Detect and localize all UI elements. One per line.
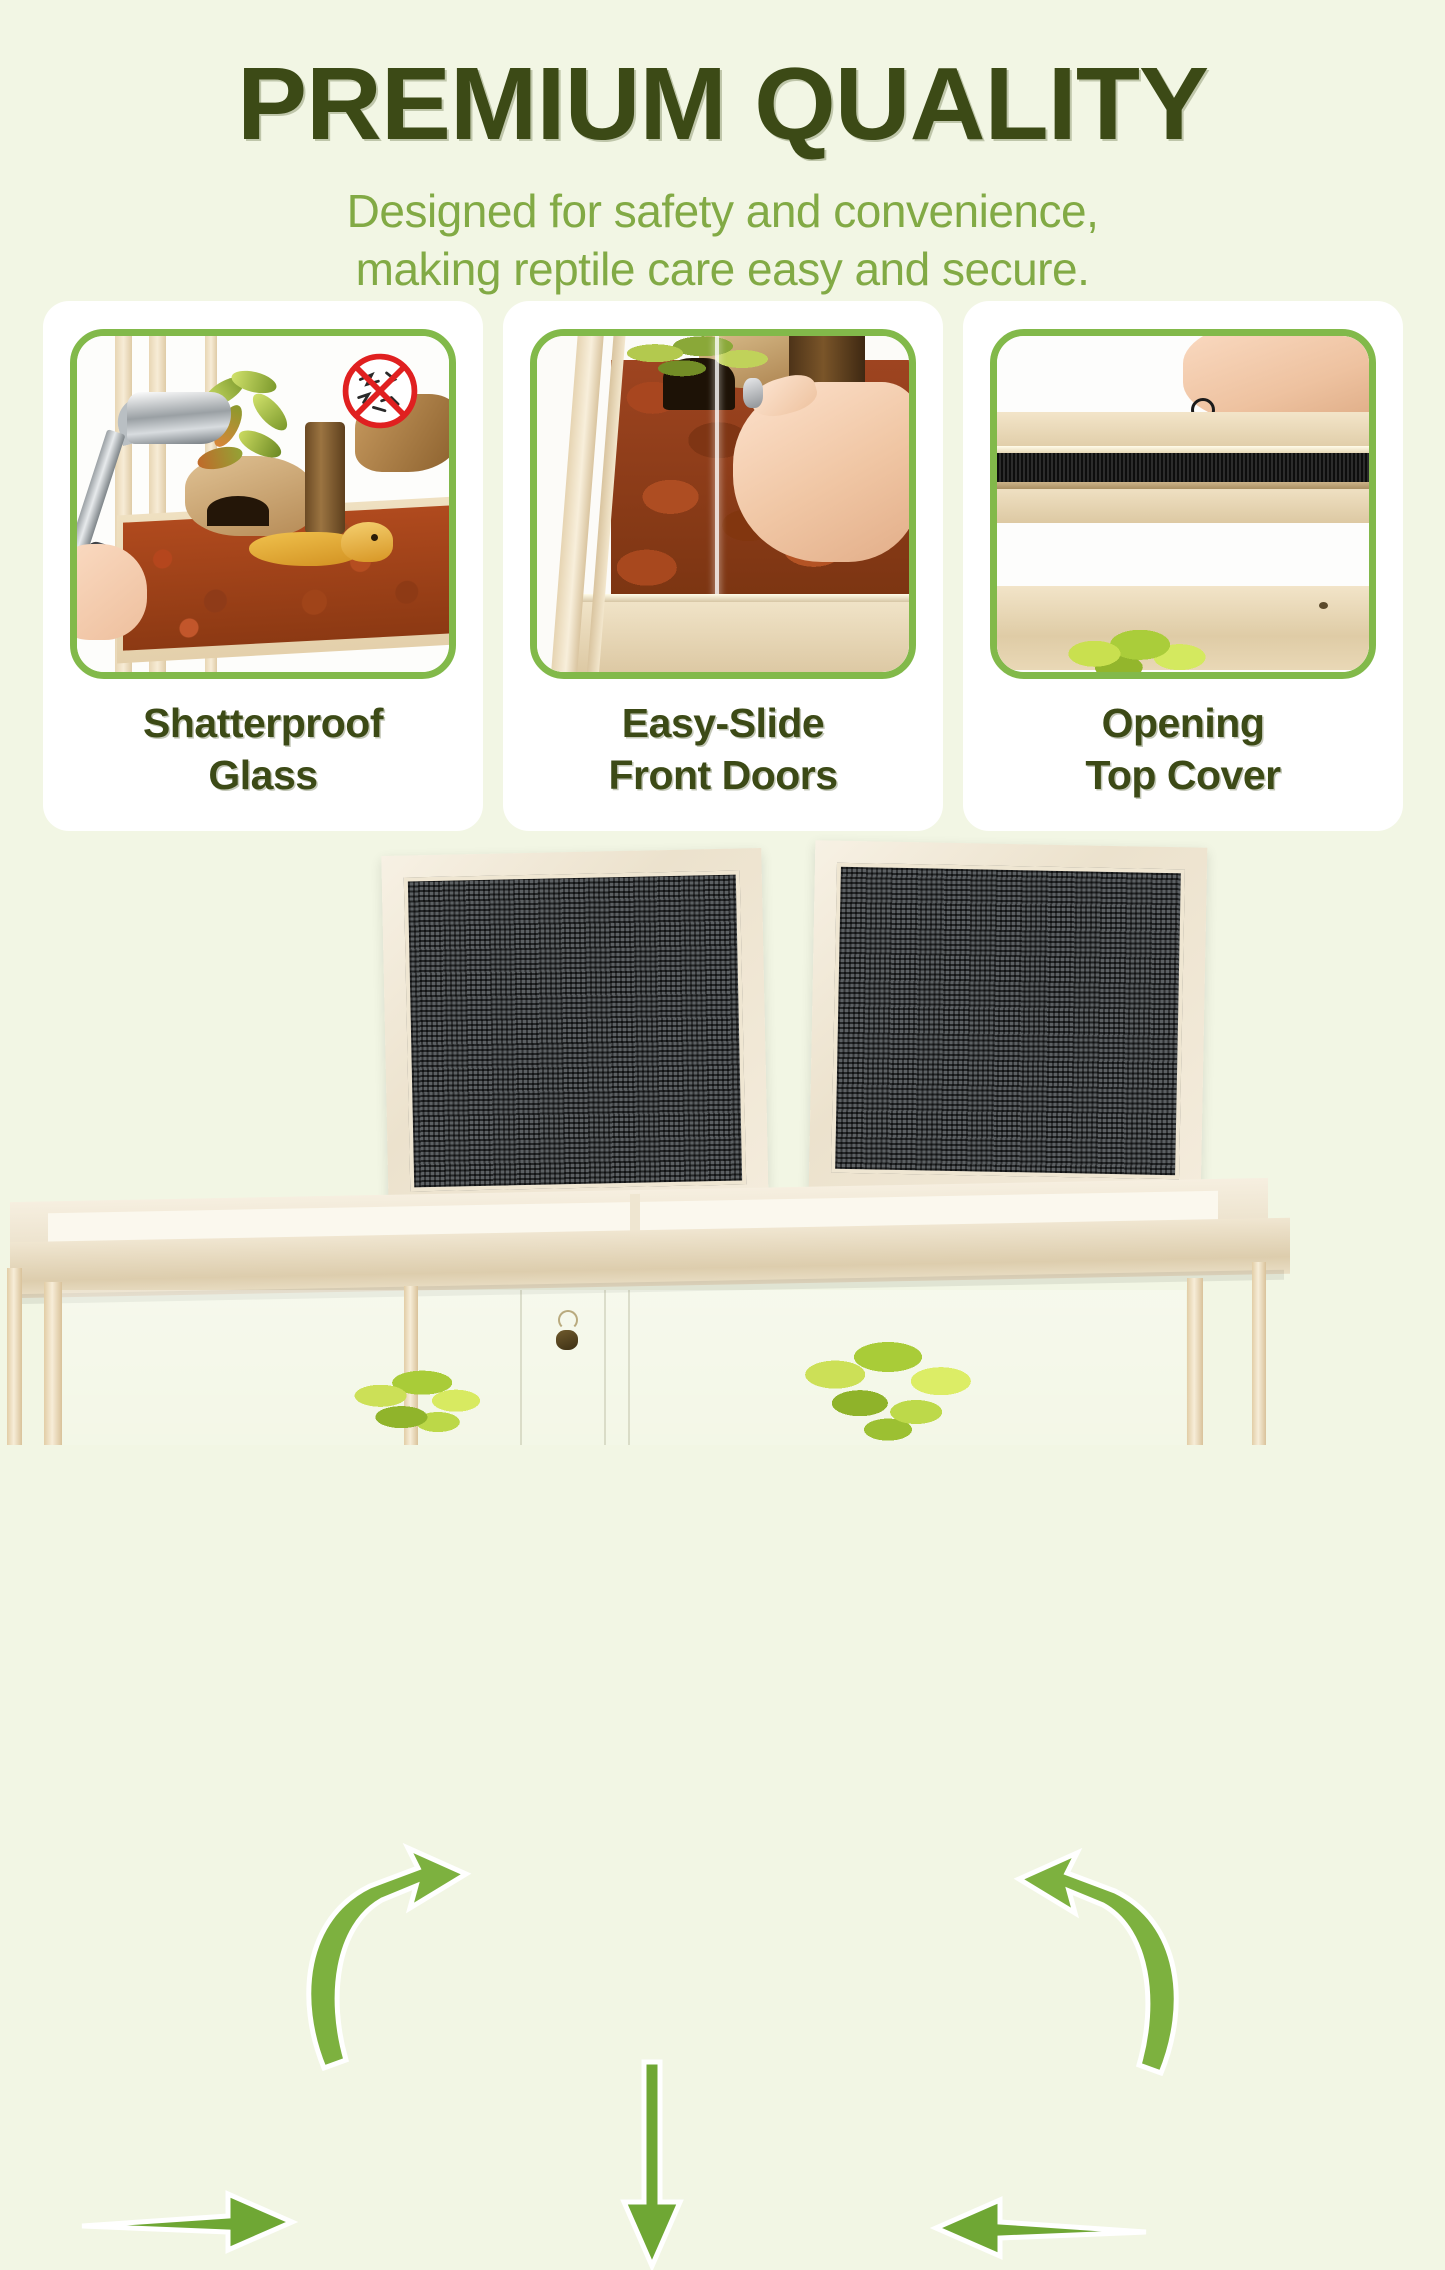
feature-card-opening-top-cover: Opening Top Cover	[963, 301, 1403, 831]
fake-plant-decor	[800, 1335, 976, 1445]
feature-label-line-2: Glass	[43, 749, 483, 801]
arrow-straight-down-front-door	[620, 2060, 684, 2270]
bearded-dragon	[249, 518, 397, 576]
door-latch[interactable]	[556, 1330, 578, 1350]
subtitle-line-2: making reptile care easy and secure.	[0, 241, 1445, 299]
feature-card-shatterproof-glass: Shatterproof Glass	[43, 301, 483, 831]
feature-label-line-1: Shatterproof	[43, 697, 483, 749]
arrow-straight-left-right-glass	[930, 2196, 1150, 2260]
feature-label-line-1: Easy-Slide	[503, 697, 943, 749]
feature-label: Opening Top Cover	[963, 697, 1403, 802]
arrow-straight-right-left-glass	[78, 2190, 298, 2254]
feature-label-line-1: Opening	[963, 697, 1403, 749]
feature-photo-frame	[70, 329, 456, 679]
screw	[1319, 602, 1328, 609]
feature-photo-frame	[990, 329, 1376, 679]
page-title: PREMIUM QUALITY	[0, 52, 1445, 155]
fake-plant-decor	[1061, 628, 1213, 672]
feature-label: Shatterproof Glass	[43, 697, 483, 802]
subtitle-line-1: Designed for safety and convenience,	[0, 183, 1445, 241]
arrow-curved-right-to-left-lid	[290, 1768, 520, 2088]
feature-label-line-2: Top Cover	[963, 749, 1403, 801]
mesh-top-cover-right[interactable]	[809, 840, 1208, 1201]
page-subtitle: Designed for safety and convenience, mak…	[0, 183, 1445, 299]
feature-card-row: Shatterproof Glass	[43, 301, 1403, 831]
arrow-curved-left-to-right-lid	[955, 1783, 1195, 2093]
feature-card-easy-slide-front-doors: Easy-Slide Front Doors	[503, 301, 943, 831]
easy-slide-front-doors-photo	[537, 336, 909, 672]
latch-ring	[558, 1310, 578, 1330]
mesh-screen-strip	[997, 453, 1369, 482]
opening-top-cover-photo	[997, 336, 1369, 672]
mesh-screen-panel	[831, 863, 1185, 1180]
no-crack-prohibition-icon	[339, 350, 421, 432]
product-photo	[0, 838, 1445, 1445]
feature-label-line-2: Front Doors	[503, 749, 943, 801]
fake-plant-decor	[352, 1363, 482, 1445]
mesh-screen-panel	[404, 871, 747, 1192]
front-glass-doors[interactable]	[60, 1290, 1186, 1445]
feature-label: Easy-Slide Front Doors	[503, 697, 943, 802]
header: PREMIUM QUALITY Designed for safety and …	[0, 0, 1445, 299]
shatterproof-glass-photo	[77, 336, 449, 672]
feature-photo-frame	[530, 329, 916, 679]
mesh-top-cover-left[interactable]	[381, 848, 768, 1214]
door-knob	[743, 378, 763, 408]
sliding-glass-door-edge	[715, 336, 719, 610]
